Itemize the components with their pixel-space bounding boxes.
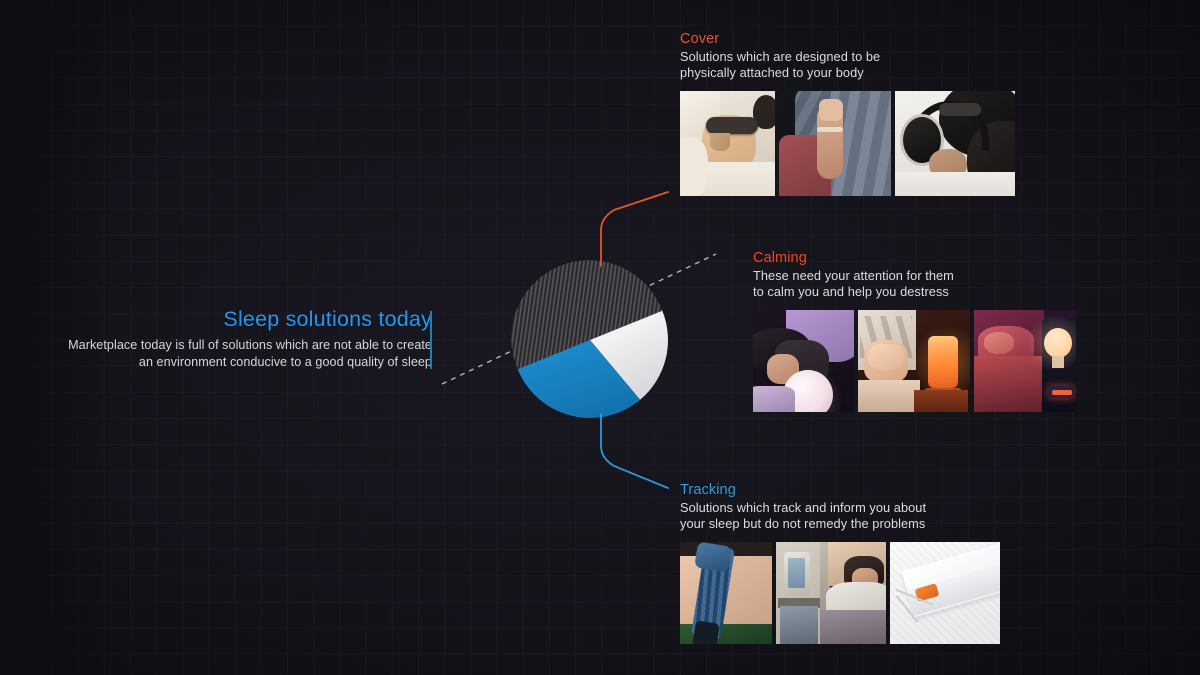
category-tracking-description: Solutions which track and inform you abo… (680, 500, 1000, 533)
bedside-light-photo[interactable] (974, 310, 1076, 412)
category-cover-description-line-2: physically attached to your body (680, 65, 864, 80)
category-tracking: Tracking Solutions which track and infor… (680, 481, 1000, 644)
category-cover-title: Cover (680, 30, 1015, 48)
sunrise-lamp-photo[interactable] (858, 310, 970, 412)
category-tracking-description-line-1: Solutions which track and inform you abo… (680, 500, 926, 515)
category-calming-description-line-1: These need your attention for them (753, 268, 954, 283)
category-calming-description: These need your attention for them to ca… (753, 268, 1076, 301)
category-cover-thumbnails (680, 91, 1015, 196)
title-accent-bar (430, 311, 432, 369)
intro-description: Marketplace today is full of solutions w… (60, 337, 432, 370)
category-cover-description-line-1: Solutions which are designed to be (680, 49, 880, 64)
sleep-mask-photo[interactable] (680, 91, 775, 196)
intro-text-block: Sleep solutions today Marketplace today … (60, 306, 432, 370)
category-tracking-description-line-2: your sleep but do not remedy the problem… (680, 516, 925, 531)
sleep-headphones-photo[interactable] (895, 91, 1015, 196)
fitness-wristband-photo[interactable] (680, 542, 772, 644)
category-cover: Cover Solutions which are designed to be… (680, 30, 1015, 196)
glowing-orb-photo[interactable] (753, 310, 854, 412)
category-tracking-title: Tracking (680, 481, 1000, 499)
weighted-blanket-photo[interactable] (779, 91, 891, 196)
category-calming-thumbnails (753, 310, 1076, 412)
mattress-sensor-photo[interactable] (890, 542, 1000, 644)
category-calming-description-line-2: to calm you and help you destress (753, 284, 949, 299)
bedside-monitor-photo[interactable] (776, 542, 886, 644)
page-title: Sleep solutions today (60, 306, 432, 332)
category-tracking-thumbnails (680, 542, 1000, 644)
category-cover-description: Solutions which are designed to be physi… (680, 49, 1015, 82)
sleep-solutions-pie-chart (500, 250, 680, 430)
category-calming: Calming These need your attention for th… (753, 249, 1076, 412)
category-calming-title: Calming (753, 249, 1076, 267)
